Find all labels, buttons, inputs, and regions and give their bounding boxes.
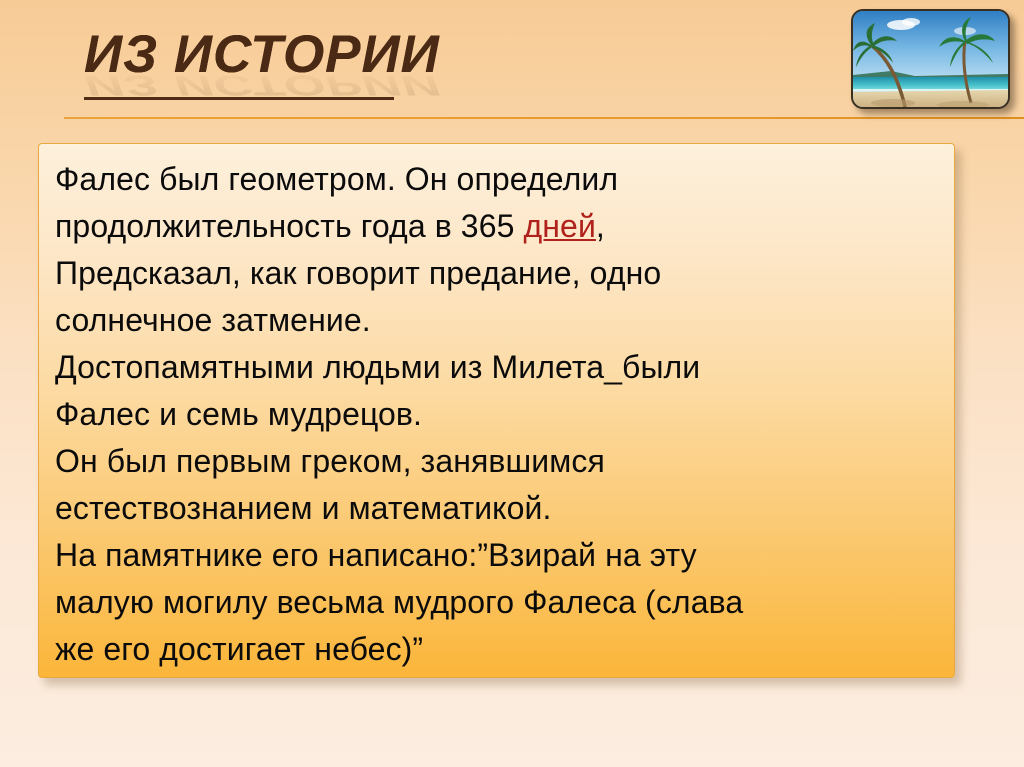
content-box: Фалес был геометром. Он определил продол… bbox=[38, 143, 955, 678]
beach-photo bbox=[851, 9, 1010, 109]
line-suffix: , bbox=[596, 208, 605, 244]
line-prefix: продолжительность года в 365 bbox=[55, 208, 524, 244]
slide: Из истории Из истории Из истории bbox=[0, 0, 1024, 767]
text-line: Фалес был геометром. Он определил bbox=[55, 156, 940, 203]
text-line: солнечное затмение. bbox=[55, 297, 940, 344]
beach-photo-graphic bbox=[853, 11, 1008, 107]
days-link[interactable]: дней bbox=[524, 208, 596, 244]
text-line-with-link: продолжительность года в 365 дней, bbox=[55, 203, 940, 250]
page-title: Из истории bbox=[84, 24, 440, 85]
header-divider bbox=[64, 117, 1024, 119]
body-text: Фалес был геометром. Он определил продол… bbox=[55, 156, 940, 673]
title-area: Из истории Из истории Из истории bbox=[0, 18, 840, 113]
text-line: Предсказал, как говорит предание, одно bbox=[55, 250, 940, 297]
text-line: же его достигает небес)” bbox=[55, 626, 940, 673]
text-line: На памятнике его написано:”Взирай на эту bbox=[55, 532, 940, 579]
text-line: Фалес и семь мудрецов. bbox=[55, 391, 940, 438]
title-underline-rule bbox=[84, 97, 394, 100]
text-line: малую могилу весьма мудрого Фалеса (слав… bbox=[55, 579, 940, 626]
text-line: естествознанием и математикой. bbox=[55, 485, 940, 532]
text-line: Он был первым греком, занявшимся bbox=[55, 438, 940, 485]
text-line: Достопамятными людьми из Милета_были bbox=[55, 344, 940, 391]
